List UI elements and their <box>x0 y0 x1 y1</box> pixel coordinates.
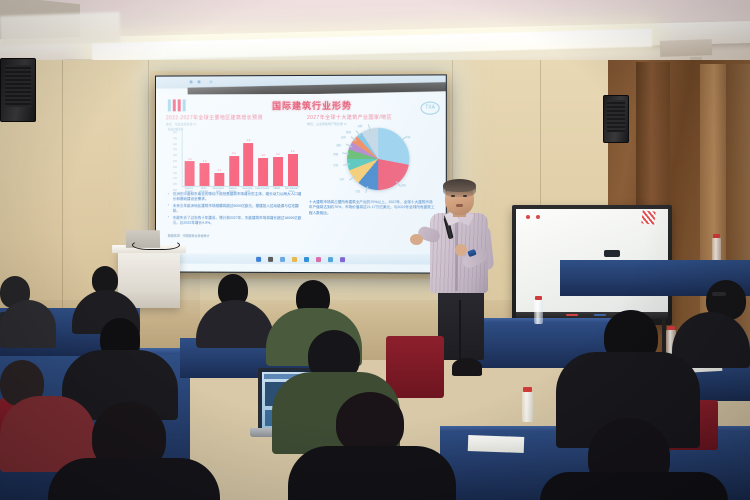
pie-slice-label: 法国 <box>341 135 346 139</box>
mail-icon[interactable] <box>328 257 333 262</box>
pie-leader-line <box>366 186 369 193</box>
pie-slice-label: 中国 <box>406 135 411 139</box>
presenter-left-hand <box>455 244 467 256</box>
bar-column: 2.4 <box>199 160 211 186</box>
slide-bullet-list: 亚洲在印度和东南亚的带动下依然是建筑市场增长的主体，增长动力以两大人口增长和基础… <box>168 192 303 228</box>
pie-slice-label: 印尼 <box>334 163 339 167</box>
blue-marker-icon <box>594 314 606 316</box>
slide-canvas: 国际建筑行业形势 TXA 2022-2027年全球主要地区建筑增长预测 单位：年… <box>156 75 446 272</box>
projected-slide: 国际建筑行业形势 TXA 2022-2027年全球主要地区建筑增长预测 单位：年… <box>156 75 446 272</box>
slide-right-paragraph: 十大建筑市场将占据所有建筑业产出的70%以上。2027年，全球十大建筑市场年产值… <box>309 200 436 216</box>
bar-column: 3.1 <box>272 153 284 186</box>
presenter-right-hand <box>410 234 423 245</box>
audience-body-left <box>0 300 56 348</box>
bar <box>273 157 283 186</box>
pie-chart-labels: 中国美国印度日本印尼德国英国法国韩国其他 <box>307 114 444 194</box>
water-bottle-4[interactable] <box>712 238 721 262</box>
projection-screen[interactable]: 国际建筑行业形势 TXA 2022-2027年全球主要地区建筑增长预测 单位：年… <box>155 74 447 273</box>
recessed-light-strip-secondary <box>0 12 120 46</box>
windows-icon[interactable] <box>256 256 261 261</box>
audience-head-8 <box>336 392 404 454</box>
bar-column: 3.0 <box>257 154 269 186</box>
pie-leader-line <box>349 176 355 181</box>
bar <box>244 143 254 186</box>
stage-table-edge <box>476 318 612 323</box>
pie-chart: 2027年全球十大建筑产业国家/地区 单位：占全球建筑产值比重 % 中国美国印度… <box>307 114 444 194</box>
pie-leader-line <box>343 164 350 166</box>
water-bottle[interactable] <box>534 300 543 324</box>
slide-bullet: 亚洲在印度和东南亚的带动下依然是建筑市场增长的主体，增长动力以两大人口增长和基础… <box>168 192 303 203</box>
smartphone-icon-2[interactable] <box>604 250 620 257</box>
bar-column: 3.2 <box>228 152 240 186</box>
ceiling-vent <box>660 39 713 57</box>
speaker-grille <box>607 100 625 132</box>
browser-tab-icon-2 <box>198 80 201 83</box>
presenter-mouth <box>456 204 463 207</box>
pie-leader-line <box>350 136 356 141</box>
bar <box>288 154 298 186</box>
eyeglasses-icon <box>712 292 726 296</box>
pie-slice-label: 韩国 <box>346 130 351 134</box>
wall-speaker-left <box>0 58 36 122</box>
red-marker-icon <box>566 314 578 316</box>
bottle-cap-3 <box>523 387 532 392</box>
gooseneck-microphone-icon <box>132 240 180 250</box>
bar <box>214 173 224 186</box>
bar <box>229 156 239 186</box>
browser-tab-icon <box>190 80 193 83</box>
pie-leader-line <box>356 131 361 137</box>
pie-leader-line <box>342 153 349 155</box>
bottle-cap-4 <box>713 234 720 238</box>
slide-title: 国际建筑行业形势 <box>247 99 377 112</box>
edge-icon[interactable] <box>303 257 308 262</box>
bottle-cap-2 <box>667 326 675 330</box>
audience-head-11 <box>452 358 482 376</box>
bar-column: 4.6 <box>243 139 255 186</box>
black-marker-icon <box>580 314 592 316</box>
store-icon[interactable] <box>315 257 320 262</box>
bar <box>185 161 195 185</box>
browser-tab-icon-3 <box>209 80 212 83</box>
widgets-icon[interactable] <box>280 256 285 261</box>
explorer-icon[interactable] <box>292 256 297 261</box>
slide-content: 国际建筑行业形势 TXA 2022-2027年全球主要地区建筑增长预测 单位：年… <box>156 94 446 255</box>
speaker-grille <box>5 65 31 107</box>
bottle-cap <box>535 296 542 300</box>
teams-icon[interactable] <box>340 257 345 262</box>
audience-body-10 <box>540 472 728 500</box>
pie-slice-label: 美国 <box>401 183 406 187</box>
wall-speaker-right <box>603 95 629 143</box>
paper-notes-2[interactable] <box>468 435 525 453</box>
pie-slice-label: 英国 <box>336 142 341 146</box>
presenter-trouser-seam <box>459 300 461 360</box>
audience-body-9 <box>48 458 220 500</box>
bar-column: 1.4 <box>213 169 225 186</box>
bar-chart-y-ticks: 5.04.54.03.53.02.52.01.51.00.50.0 <box>167 130 179 193</box>
bar-chart-title: 2022-2027年全球主要地区建筑增长预测 <box>166 114 305 121</box>
magnet-icon <box>526 215 530 219</box>
bar <box>200 163 210 186</box>
water-bottle-3[interactable] <box>522 392 533 422</box>
bar-chart-plot-area: 2.62.41.43.24.63.03.13.4 <box>182 130 300 187</box>
bar-column: 2.6 <box>184 158 196 186</box>
presenter-trousers <box>438 285 484 360</box>
bar <box>258 158 268 186</box>
chair <box>386 336 444 398</box>
slide-bullet: 东欧失去了过去的十年建设，预计到2027年，东欧建筑市场将增长超过16000亿欧… <box>168 216 303 227</box>
pie-slice-label: 其他 <box>358 124 363 128</box>
audience-body-8 <box>288 446 456 500</box>
pie-leader-line <box>368 124 370 131</box>
slide-bullet: 未来五年欧洲地区建筑市场规模将超过8000亿欧元，基建投入拉动能源与住宅翻新。 <box>168 204 303 215</box>
pie-slice-label: 日本 <box>340 177 345 181</box>
bar-chart-subtitle: 单位：年复合增长率 % <box>166 122 305 126</box>
magnet-icon-2 <box>536 215 540 219</box>
pie-leader-line <box>345 144 352 147</box>
bar-column: 3.4 <box>287 150 299 186</box>
pie-slice-label: 印度 <box>356 189 361 193</box>
conference-room-photo: 国际建筑行业形势 TXA 2022-2027年全球主要地区建筑增长预测 单位：年… <box>0 0 750 500</box>
accent-bars <box>168 98 202 110</box>
pie-slice-label: 德国 <box>333 152 338 156</box>
windows-taskbar[interactable] <box>156 254 446 265</box>
slide-source-note: 数据来源：中国建筑业协会统计 <box>168 234 210 238</box>
checkered-sticky-note <box>641 210 655 224</box>
presenter-hair-top <box>443 179 476 192</box>
search-icon[interactable] <box>268 256 273 261</box>
